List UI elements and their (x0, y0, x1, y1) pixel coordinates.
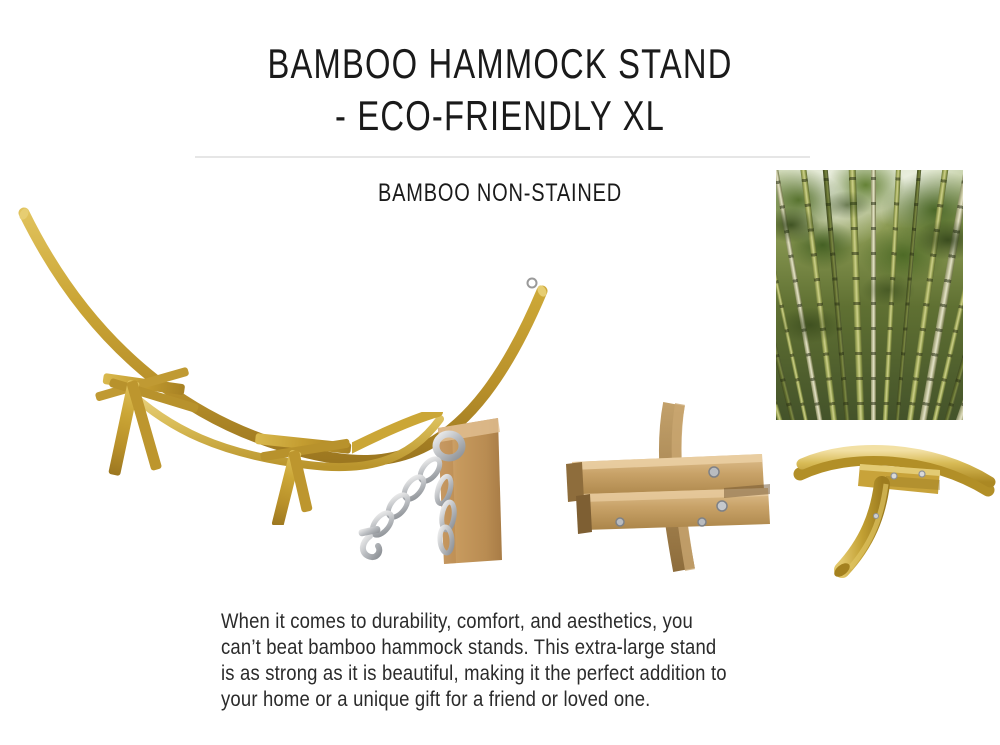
hero-left-leg (95, 367, 199, 477)
product-infographic-page: BAMBOO HAMMOCK STAND - ECO-FRIENDLY XL B… (0, 0, 1000, 745)
title-line-2: - ECO-FRIENDLY XL (110, 90, 890, 142)
bolt-icon (616, 518, 624, 526)
arc-leg-joint-drawing (790, 436, 996, 578)
s-hook-icon (363, 536, 379, 557)
bolt-icon (891, 473, 897, 479)
bamboo-forest-photo (776, 170, 963, 420)
title-divider (195, 156, 810, 158)
bolt-icon (709, 467, 719, 477)
page-title: BAMBOO HAMMOCK STAND - ECO-FRIENDLY XL (0, 38, 1000, 142)
cross-joint-detail-image (556, 398, 778, 576)
chain-hook-detail-image (352, 412, 530, 572)
bolt-icon (698, 518, 706, 526)
bolt-icon (874, 514, 879, 519)
bolt-icon (919, 471, 925, 477)
cross-joint-drawing (556, 398, 778, 576)
title-line-1: BAMBOO HAMMOCK STAND (110, 38, 890, 90)
bolt-icon (717, 501, 727, 511)
product-description: When it comes to durability, comfort, an… (221, 609, 731, 713)
eye-hook-icon (528, 279, 537, 288)
chain-hook-drawing (352, 412, 530, 572)
arc-leg-joint-detail-image (790, 436, 996, 578)
